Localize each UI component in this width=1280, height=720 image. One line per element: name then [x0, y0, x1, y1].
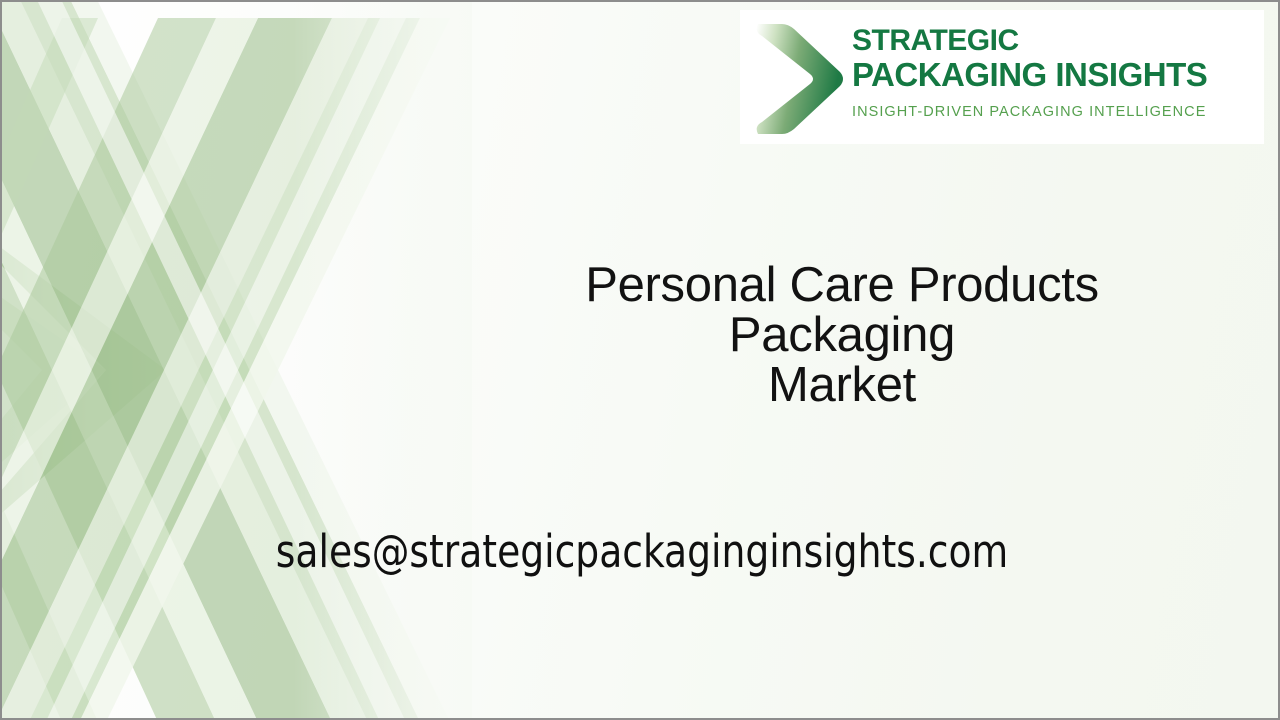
logo-line-1: STRATEGIC — [852, 26, 1264, 56]
title-line-1: Personal Care Products — [402, 260, 1280, 310]
chevron-right-icon — [740, 10, 852, 144]
company-logo: STRATEGIC PACKAGING INSIGHTS INSIGHT-DRI… — [740, 10, 1264, 144]
title-slide: STRATEGIC PACKAGING INSIGHTS INSIGHT-DRI… — [0, 0, 1280, 720]
title-line-2: Packaging — [402, 310, 1280, 360]
page-title: Personal Care Products Packaging Market — [402, 260, 1280, 410]
logo-line-2: PACKAGING INSIGHTS — [852, 58, 1264, 91]
title-line-3: Market — [402, 360, 1280, 410]
logo-tagline: INSIGHT-DRIVEN PACKAGING INTELLIGENCE — [852, 104, 1264, 120]
contact-email[interactable]: sales@strategicpackaginginsights.com — [47, 523, 1237, 581]
